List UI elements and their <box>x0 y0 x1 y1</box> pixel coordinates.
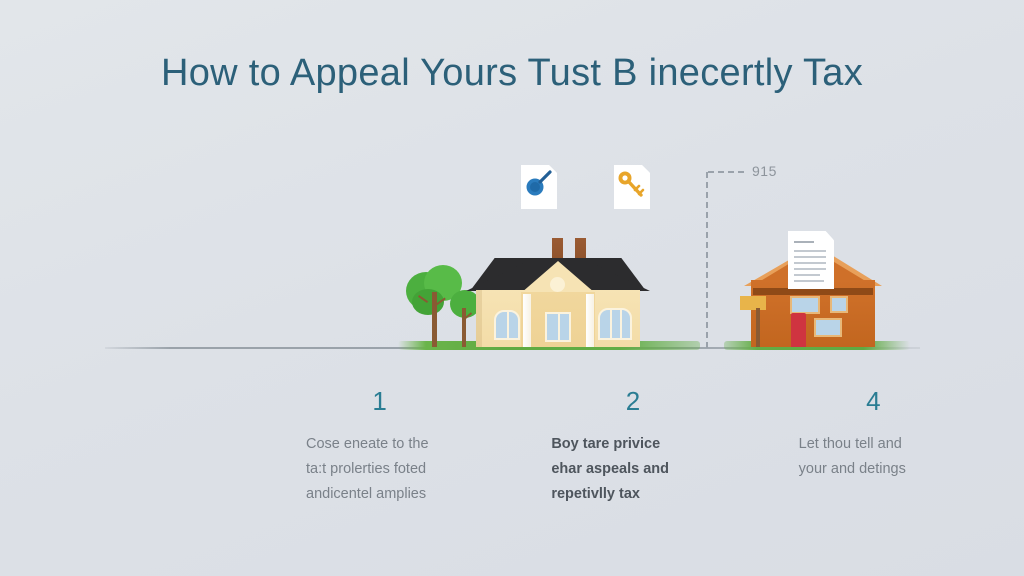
step-item-3: 4 Let thou tell and your and detings <box>799 388 1024 507</box>
portico-column <box>586 294 594 347</box>
doc-text-line <box>794 250 826 252</box>
window-mullion <box>620 310 622 338</box>
house-window <box>790 296 820 314</box>
step-line: Let thou tell and <box>799 432 1024 457</box>
window-mullion <box>507 312 509 338</box>
key-icon <box>614 165 650 209</box>
step-line: repetivlly tax <box>551 482 776 507</box>
balcony-post <box>756 308 760 347</box>
infographic-poster: How to Appeal Yours Tust B inecertly Tax <box>0 0 1024 576</box>
document-magnifier-card[interactable] <box>521 165 557 209</box>
balcony-deck <box>740 296 766 310</box>
house-window <box>830 296 848 313</box>
step-number: 2 <box>551 388 776 414</box>
document-overlay <box>788 231 834 289</box>
measure-line-vertical <box>706 172 708 348</box>
steps-row: 1 Cose eneate to the ta:t prolerties fot… <box>0 388 1024 507</box>
doc-text-line <box>794 268 826 270</box>
doc-text-line <box>794 280 824 282</box>
step-line: Cose eneate to the <box>306 432 531 457</box>
search-icon <box>521 165 557 209</box>
doc-heading-line <box>794 241 814 243</box>
tree-trunk <box>432 292 437 347</box>
step-description: Cose eneate to the ta:t prolerties foted… <box>306 432 531 507</box>
tree-trunk <box>462 308 466 347</box>
step-item-1: 1 Cose eneate to the ta:t prolerties fot… <box>306 388 531 507</box>
pediment-window <box>550 277 565 292</box>
doc-text-line <box>794 262 826 264</box>
step-line: ta:t prolerties foted <box>306 457 531 482</box>
window-mullion <box>558 314 560 340</box>
house-window <box>545 312 571 342</box>
house-wall-shade <box>476 290 482 347</box>
step-description: Let thou tell and your and detings <box>799 432 1024 482</box>
measure-label: 915 <box>752 163 777 179</box>
step-line: your and detings <box>799 457 1024 482</box>
step-line: ehar aspeals and <box>551 457 776 482</box>
doc-text-line <box>794 274 820 276</box>
step-line: Boy tare privice <box>551 432 776 457</box>
house-window <box>814 318 842 337</box>
window-mullion <box>610 310 612 338</box>
step-number: 4 <box>799 388 1024 414</box>
step-item-2: 2 Boy tare privice ehar aspeals and repe… <box>551 388 776 507</box>
step-line: andicentel amplies <box>306 482 531 507</box>
measure-line-horizontal <box>708 171 744 173</box>
step-number: 1 <box>306 388 531 414</box>
portico-column <box>523 294 531 347</box>
doc-text-line <box>794 256 826 258</box>
house-floor-band <box>753 288 873 295</box>
step-description: Boy tare privice ehar aspeals and repeti… <box>551 432 776 507</box>
house-window <box>598 308 632 340</box>
house-window <box>494 310 520 340</box>
front-door <box>791 313 806 347</box>
document-key-card[interactable] <box>614 165 650 209</box>
